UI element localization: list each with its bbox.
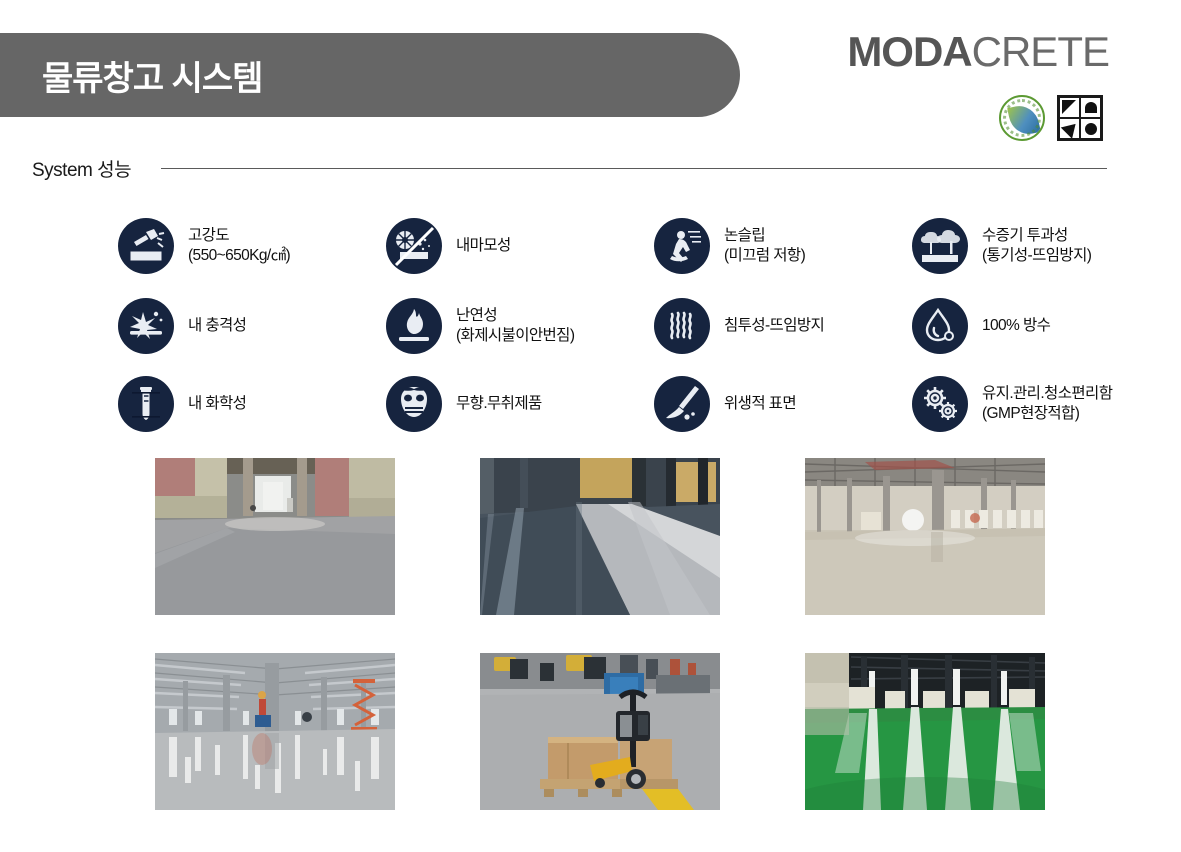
photo-green-epoxy-warehouse: [805, 653, 1045, 810]
feature-label: 수증기 투과성 (통기성-뜨임방지): [982, 226, 1091, 266]
feature-label: 난연성 (화제시불이안번짐): [456, 306, 574, 346]
gears-icon: [912, 376, 968, 432]
feature-item: 침투성-뜨임방지: [654, 287, 912, 365]
feature-item: 고강도 (550~650Kg/㎠): [118, 205, 386, 287]
feature-label: 무향.무취제품: [456, 394, 542, 414]
abrasion-wheel-icon: [386, 218, 442, 274]
certification-badges: [999, 95, 1103, 141]
page-title-bar: 물류창고 시스템: [0, 33, 740, 117]
feature-item: 내마모성: [386, 205, 654, 287]
feature-sub: (화제시불이안번짐): [456, 326, 574, 346]
hammer-impact-icon: [118, 218, 174, 274]
feature-sub: (미끄럼 저항): [724, 246, 805, 266]
feature-title: 논슬립: [724, 227, 765, 244]
page-title: 물류창고 시스템: [0, 51, 262, 100]
feature-title: 침투성-뜨임방지: [724, 317, 824, 334]
gas-mask-icon: [386, 376, 442, 432]
photo-loading-dock-dark-floor: [480, 458, 720, 615]
feature-title: 위생적 표면: [724, 395, 796, 412]
section-title: System 성능: [32, 155, 131, 182]
photo-pallet-jack-yellow-line: [480, 653, 720, 810]
feature-title: 유지.관리.청소편리함: [982, 385, 1112, 402]
feature-sub: (550~650Kg/㎠): [188, 246, 290, 266]
water-drop-icon: [912, 298, 968, 354]
feature-item: 내 충격성: [118, 287, 386, 365]
feature-item: 100% 방수: [912, 287, 1152, 365]
steam-waves-icon: [654, 298, 710, 354]
feature-sub: (GMP현장적합): [982, 404, 1112, 424]
photo-warehouse-columns-beige: [805, 458, 1045, 615]
feature-item: 유지.관리.청소편리함 (GMP현장적합): [912, 365, 1152, 443]
photo-warehouse-worker-polisher: [155, 653, 395, 810]
brand-logo-light: CRETE: [972, 28, 1109, 75]
feature-item: 무향.무취제품: [386, 365, 654, 443]
feature-item: 내 화학성: [118, 365, 386, 443]
feature-label: 논슬립 (미끄럼 저항): [724, 226, 805, 266]
feature-label: 100% 방수: [982, 316, 1050, 336]
feature-item: 난연성 (화제시불이안번짐): [386, 287, 654, 365]
photo-gallery: [155, 458, 1045, 810]
feature-title: 수증기 투과성: [982, 227, 1068, 244]
feature-title: 내 충격성: [188, 317, 246, 334]
feature-title: 100% 방수: [982, 317, 1050, 334]
section-header: System 성능: [32, 155, 1107, 182]
broom-icon: [654, 376, 710, 432]
flame-icon: [386, 298, 442, 354]
feature-label: 침투성-뜨임방지: [724, 316, 824, 336]
test-tube-icon: [118, 376, 174, 432]
feature-label: 위생적 표면: [724, 394, 796, 414]
section-divider: [161, 168, 1107, 169]
feature-label: 고강도 (550~650Kg/㎠): [188, 226, 290, 266]
feature-item: 위생적 표면: [654, 365, 912, 443]
feature-item: 논슬립 (미끄럼 저항): [654, 205, 912, 287]
feature-title: 난연성: [456, 307, 497, 324]
photo-corridor-grey-floor: [155, 458, 395, 615]
feature-sub: (통기성-뜨임방지): [982, 246, 1091, 266]
feature-label: 내마모성: [456, 236, 511, 256]
brand-logo-bold: MODA: [847, 28, 971, 75]
feature-title: 고강도: [188, 227, 229, 244]
vapor-trees-icon: [912, 218, 968, 274]
slide-root: 물류창고 시스템 MODACRETE System 성능 고강도 (550~65…: [0, 0, 1181, 852]
k-mark-certification-icon: [1057, 95, 1103, 141]
feature-label: 내 화학성: [188, 394, 246, 414]
feature-grid: 고강도 (550~650Kg/㎠) 내마모성 논슬립 (미끄럼 저항): [118, 205, 1173, 443]
feature-title: 내마모성: [456, 237, 511, 254]
feature-title: 내 화학성: [188, 395, 246, 412]
slip-person-icon: [654, 218, 710, 274]
feature-item: 수증기 투과성 (통기성-뜨임방지): [912, 205, 1152, 287]
green-line-eco-certification-icon: [999, 95, 1045, 141]
brand-logo: MODACRETE: [847, 28, 1109, 76]
impact-star-icon: [118, 298, 174, 354]
feature-label: 유지.관리.청소편리함 (GMP현장적합): [982, 384, 1112, 424]
feature-label: 내 충격성: [188, 316, 246, 336]
feature-title: 무향.무취제품: [456, 395, 542, 412]
